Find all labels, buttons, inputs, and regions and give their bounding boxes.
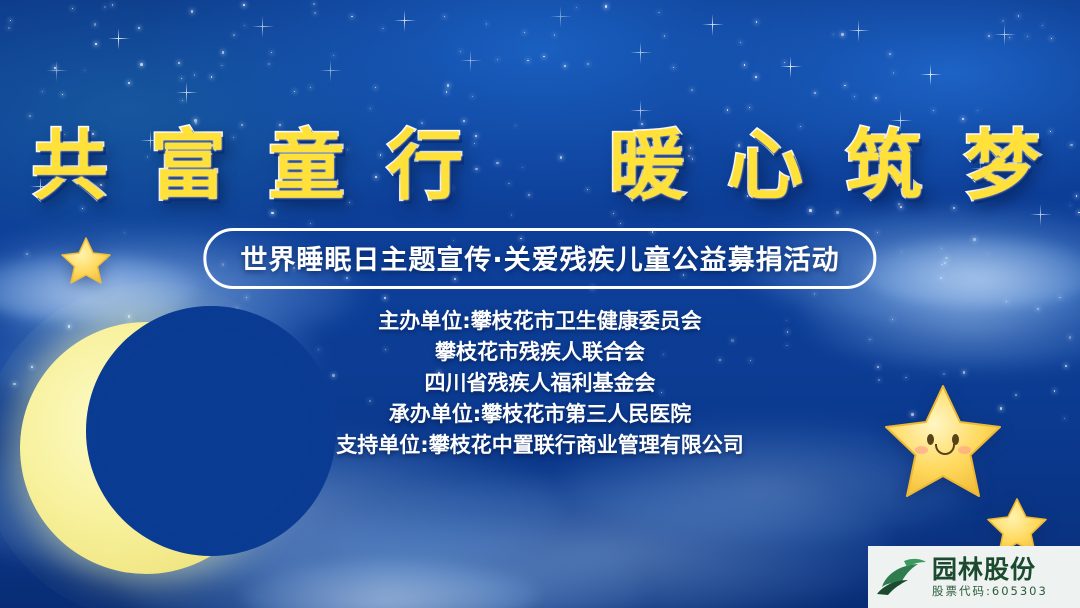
star-dot (42, 91, 43, 92)
star-dot (221, 65, 223, 67)
star-dot (1009, 37, 1010, 38)
star-dot (112, 4, 113, 5)
logo-company-name: 园林股份 (932, 556, 1048, 583)
star-dot (138, 27, 140, 29)
star-dot (893, 72, 895, 74)
star-dot (8, 27, 10, 29)
star-dot (1027, 36, 1028, 37)
star-dot (673, 67, 675, 69)
star-dot (182, 100, 183, 101)
star-dot (351, 16, 353, 18)
star-dot (314, 12, 317, 15)
star-dot (310, 223, 311, 224)
star-dot (691, 89, 693, 91)
star-dot (94, 23, 96, 25)
star-dot (844, 85, 846, 87)
star-dot (784, 62, 785, 63)
logo-stock-code: 股票代码:605303 (932, 584, 1048, 599)
leaf-logo-icon (874, 554, 930, 600)
star-dot (271, 52, 272, 53)
star-sparkle (560, 16, 562, 18)
organizer-line: 承办单位:攀枝花市第三人民医院 (0, 399, 1080, 430)
star-dot (511, 214, 513, 216)
star-dot (140, 63, 143, 66)
star-dot (755, 76, 757, 78)
star-icon-small-left (60, 236, 112, 286)
star-dot (95, 43, 97, 45)
organizer-line: 支持单位:攀枝花中置联行商业管理有限公司 (0, 430, 1080, 461)
star-dot (181, 78, 182, 79)
star-sparkle (1040, 214, 1042, 216)
star-sparkle (262, 26, 264, 28)
star-dot (382, 28, 384, 30)
star-dot (564, 65, 566, 67)
star-dot (941, 264, 943, 266)
star-sparkle (640, 52, 642, 54)
star-dot (814, 293, 815, 294)
star-dot (124, 232, 125, 233)
star-sparkle (56, 70, 58, 72)
star-dot (877, 232, 878, 233)
star-dot (1051, 38, 1052, 39)
star-sparkle (1004, 34, 1006, 36)
organizer-list: 主办单位:攀枝花市卫生健康委员会 攀枝花市残疾人联合会 四川省残疾人福利基金会 … (0, 306, 1080, 461)
star-dot (233, 34, 235, 36)
star-dot (605, 5, 607, 7)
star-dot (294, 91, 295, 92)
page-title: 共 富 童 行 暖 心 筑 梦 (0, 104, 1080, 214)
organizer-line: 攀枝花市残疾人联合会 (0, 337, 1080, 368)
star-sparkle (712, 24, 714, 26)
star-sparkle (930, 74, 932, 76)
logo-text-block: 园林股份 股票代码:605303 (932, 556, 1048, 599)
star-dot (26, 253, 28, 255)
star-dot (620, 223, 621, 224)
star-dot (84, 70, 85, 71)
star-dot (444, 16, 445, 17)
star-dot (62, 94, 63, 95)
star-dot (941, 248, 942, 249)
star-dot (486, 23, 488, 25)
star-dot (246, 297, 247, 298)
star-dot (944, 262, 946, 264)
star-sparkle (470, 60, 472, 62)
star-dot (244, 25, 245, 26)
star-dot (497, 59, 498, 60)
star-dot (1042, 25, 1043, 26)
star-dot (194, 74, 196, 76)
star-dot (756, 21, 758, 23)
star-dot (740, 42, 741, 43)
star-dot (191, 10, 193, 12)
star-dot (527, 60, 529, 62)
star-dot (814, 92, 816, 94)
star-dot (576, 7, 577, 8)
star-sparkle (118, 38, 120, 40)
star-dot (106, 259, 107, 260)
star-dot (243, 4, 245, 6)
star-dot (1002, 20, 1004, 22)
star-sparkle (404, 20, 406, 22)
star-dot (841, 33, 843, 35)
poster-canvas: 共 富 童 行 暖 心 筑 梦 世界睡眠日主题宣传·关爱残疾儿童公益募捐活动 主… (0, 0, 1080, 608)
star-dot (222, 51, 224, 53)
star-dot (744, 64, 746, 66)
star-dot (973, 238, 976, 241)
star-dot (460, 51, 461, 52)
star-sparkle (186, 92, 188, 94)
star-dot (472, 96, 473, 97)
star-dot (988, 35, 990, 37)
star-dot (658, 12, 660, 14)
star-sparkle (330, 70, 332, 72)
star-dot (1059, 297, 1061, 299)
star-dot (524, 32, 525, 33)
star-dot (375, 87, 376, 88)
star-sparkle (858, 30, 860, 32)
star-dot (587, 63, 589, 65)
organizer-line: 四川省残疾人福利基金会 (0, 368, 1080, 399)
star-dot (875, 97, 877, 99)
star-dot (543, 56, 545, 58)
star-dot (833, 34, 834, 35)
star-dot (268, 63, 270, 65)
star-dot (104, 6, 106, 8)
star-dot (128, 82, 130, 84)
star-dot (854, 96, 855, 97)
sponsor-logo: 园林股份 股票代码:605303 (868, 546, 1080, 608)
star-dot (664, 35, 665, 36)
star-dot (333, 55, 334, 56)
star-dot (945, 257, 947, 259)
star-dot (987, 253, 988, 254)
star-dot (446, 91, 448, 93)
star-dot (447, 84, 449, 86)
star-dot (211, 76, 213, 78)
star-dot (554, 34, 556, 36)
star-dot (54, 67, 56, 69)
star-dot (72, 8, 73, 9)
subtitle-badge: 世界睡眠日主题宣传·关爱残疾儿童公益募捐活动 (203, 228, 876, 289)
star-dot (384, 297, 386, 299)
star-dot (178, 62, 180, 64)
star-dot (313, 3, 315, 5)
star-dot (10, 20, 11, 21)
star-sparkle (790, 66, 792, 68)
star-dot (310, 87, 311, 88)
star-dot (889, 53, 891, 55)
star-dot (940, 277, 942, 279)
star-dot (1018, 15, 1020, 17)
organizer-line: 主办单位:攀枝花市卫生健康委员会 (0, 306, 1080, 337)
star-dot (901, 251, 903, 253)
star-dot (1006, 301, 1008, 303)
